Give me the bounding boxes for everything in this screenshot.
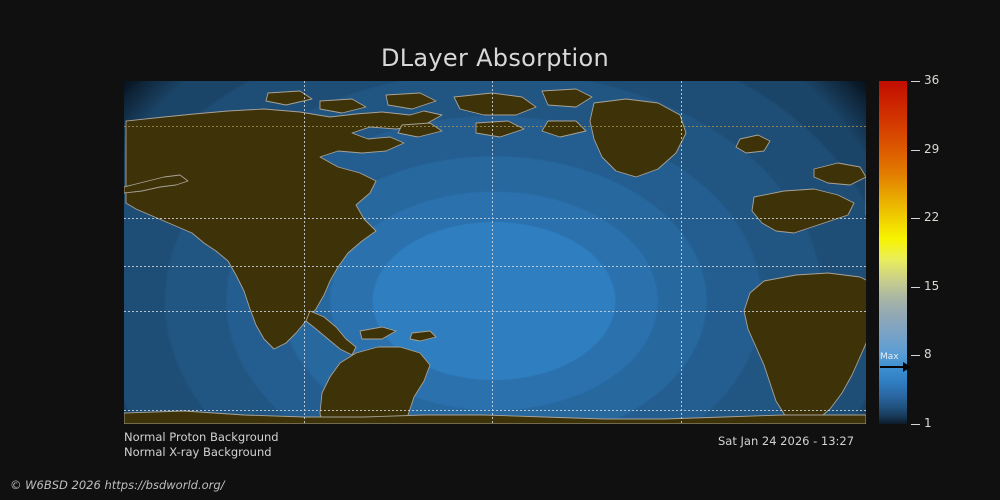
colorbar-tick xyxy=(911,355,920,356)
colorbar-axis-title: Affected Frequency (MHz) xyxy=(921,81,1000,424)
colorbar-tick xyxy=(911,287,920,288)
plot-canvas: DLayer Absorption xyxy=(0,0,1000,500)
world-map[interactable] xyxy=(124,81,866,424)
colorbar-tick xyxy=(911,424,920,425)
page-title: DLayer Absorption xyxy=(0,44,990,72)
colorbar-tick xyxy=(911,81,920,82)
proton-status-note: Normal Proton Background xyxy=(124,430,279,444)
copyright-notice: © W6BSD 2026 https://bsdworld.org/ xyxy=(10,478,225,492)
colorbar-tick xyxy=(911,150,920,151)
colorbar-tick xyxy=(911,218,920,219)
timestamp: Sat Jan 24 2026 - 13:27 xyxy=(718,434,854,448)
coastlines-layer xyxy=(124,81,866,424)
colorbar-gradient[interactable] xyxy=(879,81,907,424)
xray-status-note: Normal X-ray Background xyxy=(124,445,272,459)
